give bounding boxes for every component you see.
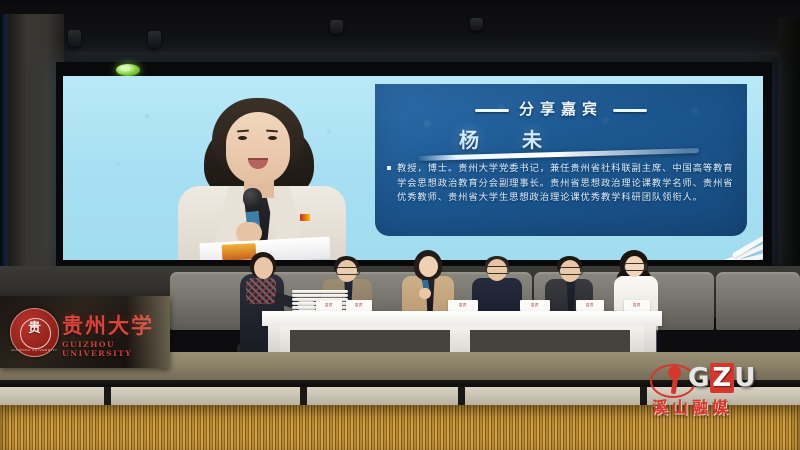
name-card: 嘉宾	[316, 300, 342, 311]
name-underline	[417, 148, 699, 161]
photo-eye	[238, 136, 247, 140]
panel-table-recess	[470, 330, 630, 352]
flag-pin-icon	[300, 214, 310, 221]
ceiling-spotlight	[148, 31, 161, 48]
stage-sofa	[716, 272, 800, 330]
guest-info-panel: 分享嘉宾 杨 未 教授，博士。贵州大学党委书记，兼任贵州省社科联副主席、中国高等…	[375, 84, 747, 236]
name-card-label: 嘉宾	[346, 300, 372, 311]
panelist-hand	[419, 288, 431, 299]
photo-face	[226, 112, 290, 184]
ceiling-spotlight	[470, 18, 483, 31]
name-card-label: 嘉宾	[448, 300, 478, 311]
university-banner: 贵 GUIZHOU UNIVERSITY 贵州大学 GUIZHOU UNIVER…	[0, 296, 170, 368]
broadcaster-watermark: GZU 溪山融媒	[644, 360, 796, 426]
seal-arc-text: GUIZHOU UNIVERSITY	[11, 348, 58, 352]
bullet-icon	[387, 166, 391, 170]
glasses-icon	[624, 263, 647, 271]
title-dash-right	[613, 109, 647, 112]
university-name-en: GUIZHOU UNIVERSITY	[62, 340, 170, 358]
brush-stroke-decoration	[703, 216, 763, 260]
name-card: 嘉宾	[576, 300, 604, 311]
microphone-head-icon	[243, 188, 262, 208]
university-name-cn: 贵州大学	[62, 310, 154, 340]
slide-title: 分享嘉宾	[375, 98, 747, 119]
panelist-head	[419, 256, 438, 277]
slide-title-text: 分享嘉宾	[519, 101, 603, 118]
glasses-icon	[336, 267, 360, 275]
name-card: 嘉宾	[520, 300, 550, 311]
name-card-label: 嘉宾	[576, 300, 604, 311]
speaker-photo	[160, 76, 360, 260]
guest-bio-text: 教授，博士。贵州大学党委书记，兼任贵州省社科联副主席、中国高等教育学会思想政治教…	[397, 163, 734, 203]
ceiling-spotlight	[68, 30, 81, 47]
watermark-letter-z: Z	[710, 363, 734, 393]
right-wall	[778, 18, 800, 308]
name-card-label: 嘉宾	[520, 300, 550, 311]
seal-glyph: 贵	[11, 317, 58, 336]
panel-table-recess	[290, 330, 450, 352]
title-dash-left	[475, 109, 509, 112]
power-indicator-icon	[116, 64, 140, 76]
moderator-head	[254, 257, 273, 279]
photo-eye	[268, 136, 277, 140]
name-card: 嘉宾	[346, 300, 372, 311]
name-card-label: 嘉宾	[316, 300, 342, 311]
university-seal-icon: 贵 GUIZHOU UNIVERSITY	[10, 308, 59, 357]
watermark-subtitle: 溪山融媒	[652, 394, 732, 418]
name-card: 嘉宾	[624, 300, 650, 311]
panel-table-top	[262, 311, 662, 326]
screenshot-root: 分享嘉宾 杨 未 教授，博士。贵州大学党委书记，兼任贵州省社科联副主席、中国高等…	[0, 0, 800, 450]
glasses-icon	[486, 266, 510, 274]
guest-bio: 教授，博士。贵州大学党委书记，兼任贵州省社科联副主席、中国高等教育学会思想政治教…	[397, 162, 741, 206]
watermark-letter-u: U	[734, 363, 756, 393]
name-card-label: 嘉宾	[624, 300, 650, 311]
name-card: 嘉宾	[448, 300, 478, 311]
ceiling-spotlight	[330, 20, 343, 34]
watermark-letter-g: G	[688, 363, 710, 393]
glasses-icon	[559, 267, 583, 275]
guest-name: 杨 未	[459, 124, 560, 153]
led-screen: 分享嘉宾 杨 未 教授，博士。贵州大学党委书记，兼任贵州省社科联副主席、中国高等…	[63, 76, 763, 260]
watermark-logotype: GZU	[688, 363, 756, 393]
